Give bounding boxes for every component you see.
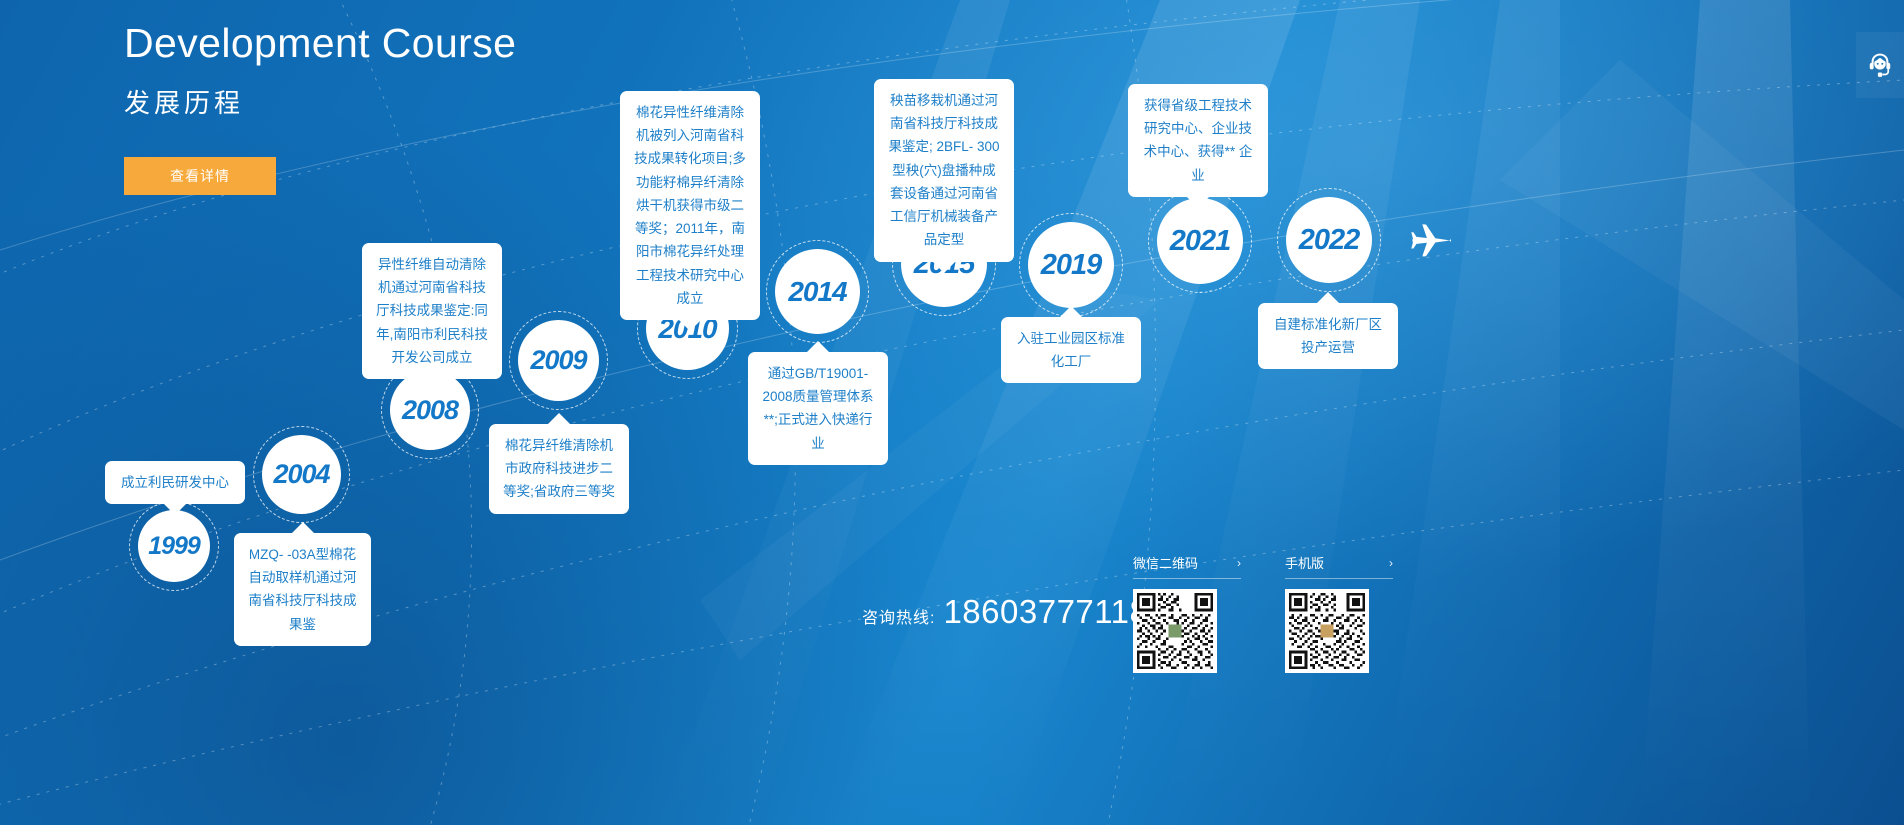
timeline-card-2015[interactable]: 秧苗移栽机通过河南省科技厅科技成果鉴定; 2BFL- 300型秧(穴)盘播种成套… (874, 79, 1014, 262)
qr-pattern (1289, 593, 1365, 669)
airplane-icon (1399, 222, 1453, 262)
timeline-year-label: 2009 (530, 345, 586, 376)
card-pointer (292, 522, 314, 533)
timeline-year-label: 2008 (402, 395, 458, 426)
qr-block-wechat: 微信二维码 › (1133, 553, 1241, 673)
timeline-year-label: 2019 (1041, 249, 1102, 282)
card-pointer (807, 341, 829, 352)
timeline-node-2019[interactable]: 2019 (1028, 222, 1114, 308)
timeline-card-2021[interactable]: 获得省级工程技术研究中心、企业技术中心、获得** 企业 (1128, 84, 1268, 197)
timeline-card-text: 棉花异纤维清除机市政府科技进步二等奖;省政府三等奖 (503, 438, 615, 499)
card-pointer (548, 413, 570, 424)
view-details-button[interactable]: 查看详情 (124, 157, 276, 195)
timeline-year-label: 1999 (148, 532, 200, 561)
timeline-card-2010[interactable]: 棉花异性纤维清除机被列入河南省科技成果转化项目;多功能籽棉异纤清除烘干机获得市级… (620, 91, 760, 320)
timeline-card-2004[interactable]: MZQ- -03A型棉花自动取样机通过河南省科技厅科技成果鉴 (234, 533, 371, 646)
timeline-card-text: 通过GB/T19001-2008质量管理体系**;正式进入快递行业 (762, 366, 873, 451)
timeline-year-label: 2021 (1170, 225, 1231, 258)
airplane-marker (1399, 222, 1453, 267)
timeline-card-text: MZQ- -03A型棉花自动取样机通过河南省科技厅科技成果鉴 (249, 547, 357, 632)
card-pointer (1060, 306, 1082, 317)
timeline-card-2008[interactable]: 异性纤维自动清除机通过河南省科技厅科技成果鉴定:同年,南阳市利民科技开发公司成立 (362, 243, 502, 379)
development-course-page: Development Course 发展历程 查看详情 1999 成立利民研发… (0, 0, 1904, 825)
timeline-node-2022[interactable]: 2022 (1286, 197, 1372, 283)
timeline-year-label: 2004 (273, 459, 329, 490)
timeline-node-2004[interactable]: 2004 (262, 435, 341, 514)
card-pointer (164, 504, 186, 515)
timeline-card-text: 异性纤维自动清除机通过河南省科技厅科技成果鉴定:同年,南阳市利民科技开发公司成立 (376, 257, 488, 365)
qr-label: 微信二维码 (1133, 553, 1198, 572)
page-title-english: Development Course (124, 18, 516, 69)
card-pointer (933, 262, 955, 273)
timeline-card-text: 秧苗移栽机通过河南省科技厅科技成果鉴定; 2BFL- 300型秧(穴)盘播种成套… (888, 93, 999, 247)
timeline-card-1999[interactable]: 成立利民研发中心 (105, 461, 245, 504)
timeline-node-2014[interactable]: 2014 (775, 249, 860, 334)
page-title-chinese: 发展历程 (124, 83, 516, 120)
chevron-right-icon: › (1237, 556, 1241, 570)
headset-customer-service-icon (1866, 51, 1894, 79)
qr-code-image-mobile (1285, 589, 1369, 673)
timeline-card-text: 成立利民研发中心 (121, 475, 229, 490)
chevron-right-icon: › (1389, 556, 1393, 570)
qr-block-mobile: 手机版 › (1285, 553, 1393, 673)
timeline-node-1999[interactable]: 1999 (138, 510, 210, 582)
qr-header-mobile[interactable]: 手机版 › (1285, 553, 1393, 579)
card-pointer (679, 320, 701, 331)
hotline-label: 咨询热线: (862, 604, 935, 628)
timeline-card-2009[interactable]: 棉花异纤维清除机市政府科技进步二等奖;省政府三等奖 (489, 424, 629, 514)
timeline-card-2014[interactable]: 通过GB/T19001-2008质量管理体系**;正式进入快递行业 (748, 352, 888, 465)
qr-header-wechat[interactable]: 微信二维码 › (1133, 553, 1241, 579)
customer-service-widget[interactable] (1856, 32, 1904, 98)
card-pointer (1317, 292, 1339, 303)
qr-code-image-wechat (1133, 589, 1217, 673)
timeline-card-2022[interactable]: 自建标准化新厂区投产运营 (1258, 303, 1398, 369)
timeline-card-text: 入驻工业园区标准化工厂 (1017, 331, 1125, 369)
timeline-year-label: 2022 (1299, 224, 1360, 257)
qr-label: 手机版 (1285, 553, 1324, 572)
timeline-node-2021[interactable]: 2021 (1157, 198, 1243, 284)
timeline-card-text: 棉花异性纤维清除机被列入河南省科技成果转化项目;多功能籽棉异纤清除烘干机获得市级… (634, 105, 746, 306)
qr-pattern (1137, 593, 1213, 669)
timeline-card-text: 获得省级工程技术研究中心、企业技术中心、获得** 企业 (1144, 98, 1253, 183)
card-pointer (1187, 197, 1209, 208)
timeline-year-label: 2014 (788, 276, 846, 308)
timeline-card-text: 自建标准化新厂区投产运营 (1274, 317, 1382, 355)
card-pointer (421, 379, 443, 390)
hotline-number: 18603777118 (943, 593, 1148, 631)
timeline-node-2009[interactable]: 2009 (518, 320, 599, 401)
timeline-card-2019[interactable]: 入驻工业园区标准化工厂 (1001, 317, 1141, 383)
page-header: Development Course 发展历程 (124, 18, 516, 120)
hotline: 咨询热线: 18603777118 (862, 593, 1148, 631)
